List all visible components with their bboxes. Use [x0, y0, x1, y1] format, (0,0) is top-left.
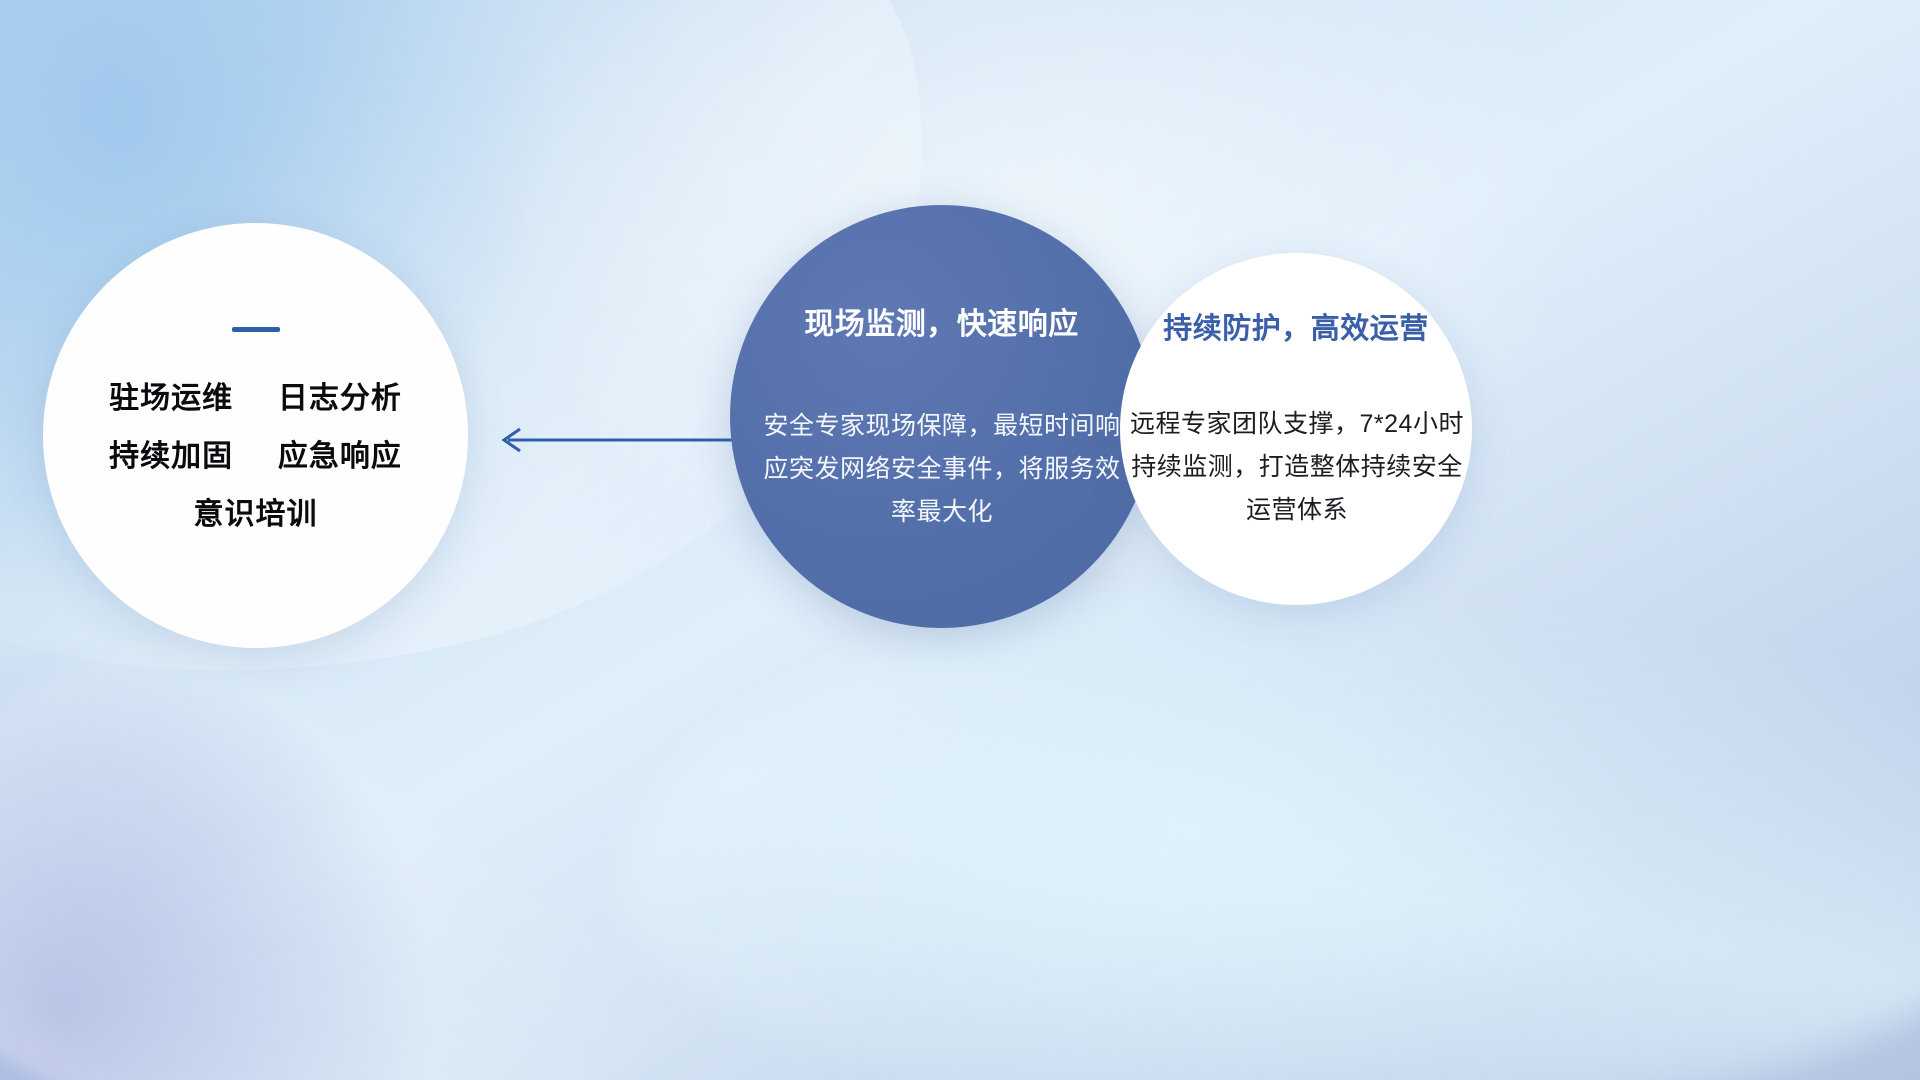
background-swoosh-bottom-left	[0, 620, 780, 1080]
capability-item-awareness-training: 意识培训	[194, 498, 318, 531]
continuous-protection-body: 远程专家团队支撑，7*24小时持续监测，打造整体持续安全运营体系	[1128, 403, 1466, 532]
onsite-monitoring-title: 现场监测，快速响应	[730, 299, 1153, 343]
continuous-protection-title: 持续防护，高效运营	[1120, 305, 1472, 347]
onsite-monitoring-body: 安全专家现场保障，最短时间响应突发网络安全事件，将服务效率最大化	[762, 405, 1122, 534]
capability-line-3: 意识培训	[109, 486, 402, 544]
capability-item-onsite-ops: 驻场运维	[109, 382, 233, 415]
capability-item-log-analysis: 日志分析	[278, 382, 402, 415]
background-swoosh-bottom-right	[620, 560, 1920, 1080]
capability-line-1: 驻场运维 日志分析	[109, 370, 402, 428]
service-capability-circle[interactable]: 驻场运维 日志分析 持续加固 应急响应 意识培训	[43, 223, 468, 648]
divider-dash	[232, 327, 280, 332]
slide-canvas: 驻场运维 日志分析 持续加固 应急响应 意识培训 现场监测，快速响应 安全专家现…	[0, 0, 1920, 1080]
capability-item-continuous-hardening: 持续加固	[109, 440, 233, 473]
capability-item-emergency-response: 应急响应	[278, 440, 402, 473]
capability-line-2: 持续加固 应急响应	[109, 428, 402, 486]
capability-list: 驻场运维 日志分析 持续加固 应急响应 意识培训	[109, 370, 402, 544]
flow-arrow-icon	[494, 415, 764, 465]
